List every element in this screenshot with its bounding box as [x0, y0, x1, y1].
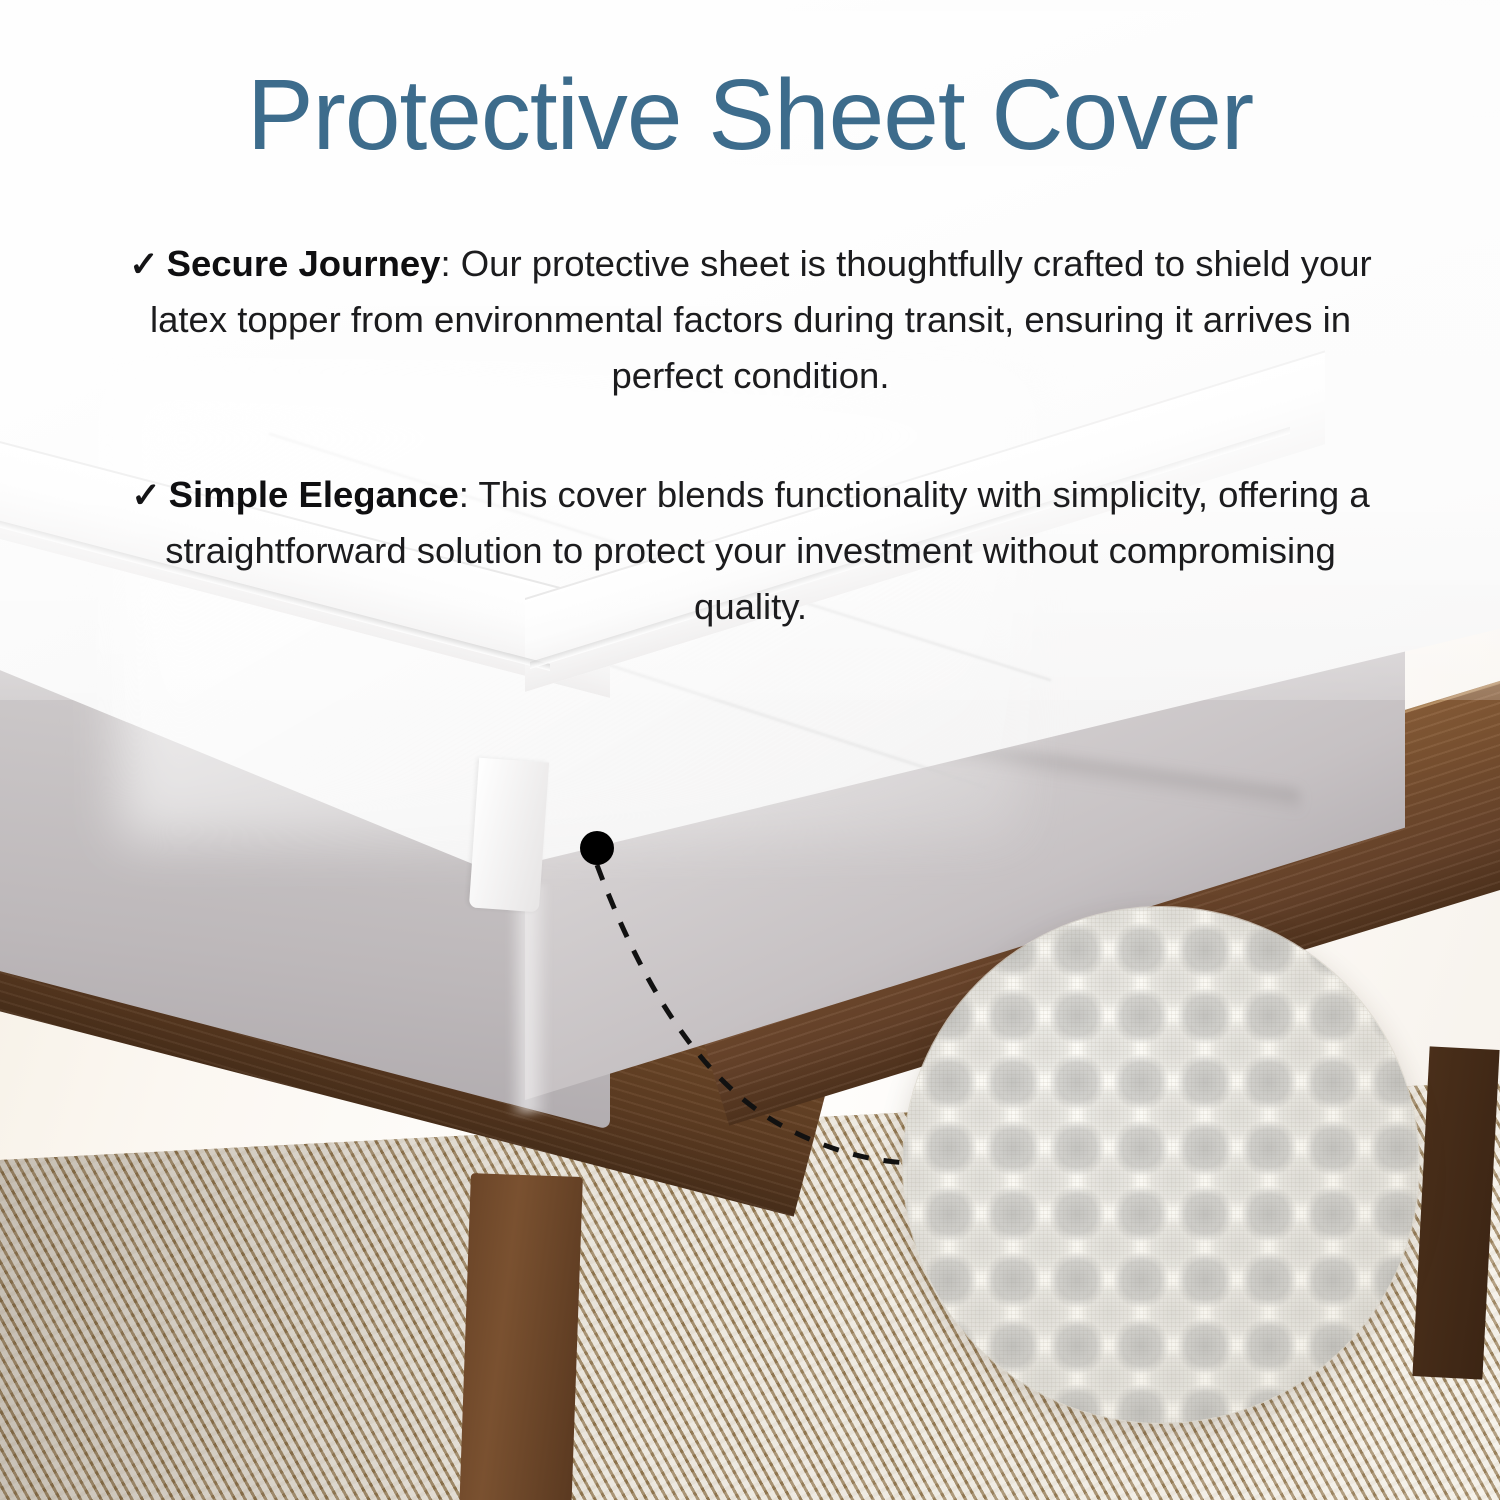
callout-vignette	[903, 907, 1419, 1423]
fabric-detail-marker	[580, 831, 614, 865]
page-title: Protective Sheet Cover	[0, 64, 1500, 166]
fabric-weave-zoom	[903, 907, 1419, 1423]
feature-bullet-secure-journey: ✓Secure Journey: Our protective sheet is…	[128, 236, 1373, 405]
product-marketing-image: Protective Sheet Cover ✓Secure Journey: …	[0, 0, 1500, 1500]
check-icon: ✓	[129, 245, 158, 284]
feature-bullet-list: ✓Secure Journey: Our protective sheet is…	[128, 236, 1373, 697]
feature-bullet-heading: Simple Elegance	[169, 474, 459, 515]
feature-bullet-simple-elegance: ✓Simple Elegance: This cover blends func…	[128, 467, 1373, 636]
bed-frame-corner-post	[459, 1173, 583, 1500]
mattress-corner-highlight	[508, 884, 550, 1114]
topper-corner-fold	[469, 758, 549, 913]
feature-bullet-heading: Secure Journey	[167, 243, 441, 284]
check-icon: ✓	[131, 476, 160, 515]
